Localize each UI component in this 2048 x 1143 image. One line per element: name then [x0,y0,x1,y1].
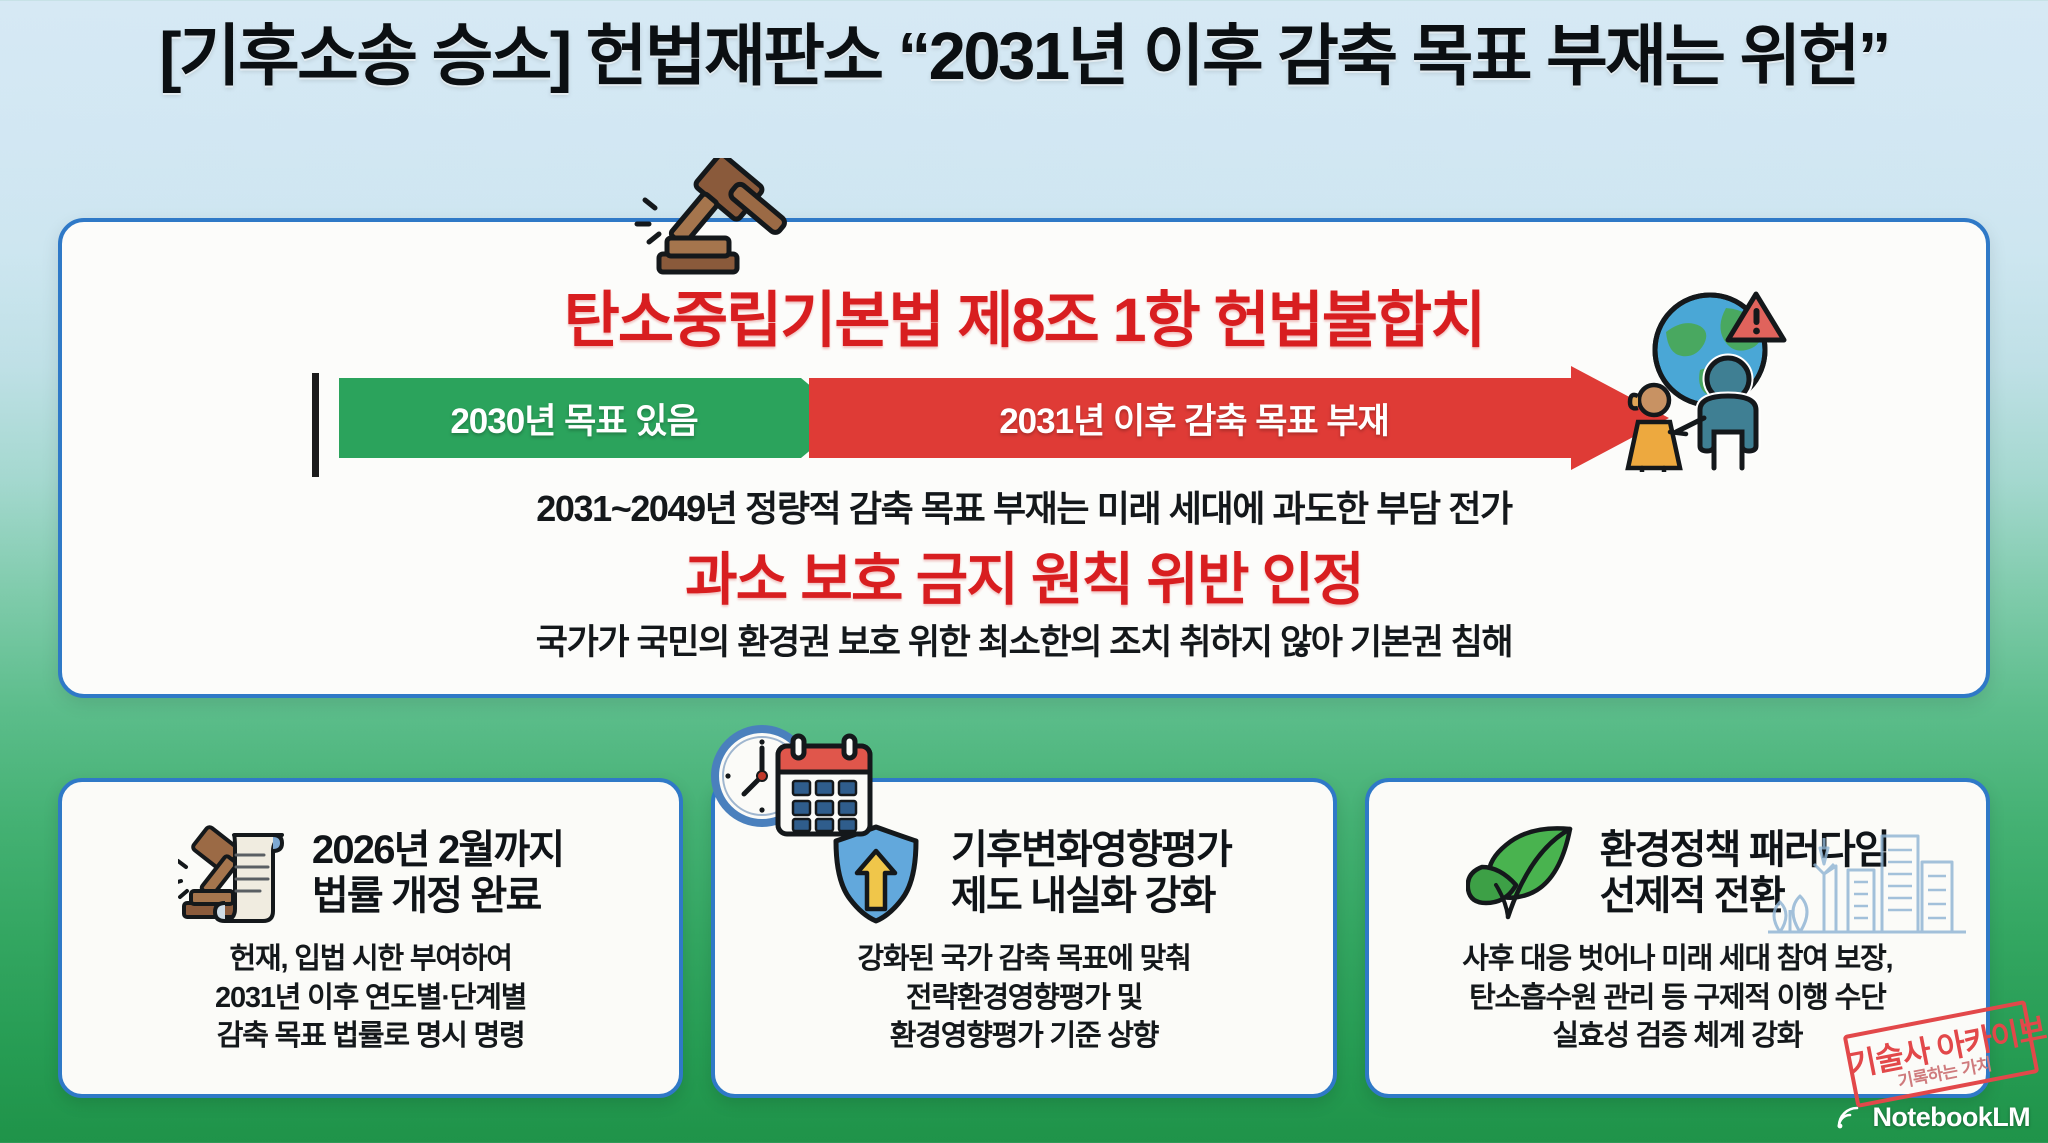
bottom-card-2-title-line-2: 제도 내실화 강화 [951,873,1231,919]
earth-family-warning-icon [1608,282,1838,472]
gavel-scroll-icon [178,821,296,925]
bottom-card-1-body-line-3: 감축 목표 법률로 명시 명령 [80,1017,661,1056]
bottom-card-3-title: 환경정책 패러다임 선제적 전환 [1600,827,1889,920]
bottom-card-1-title-line-2: 법률 개정 완료 [312,873,564,919]
main-ruling-card: 탄소중립기본법 제8조 1항 헌법불합치 2030년 목표 있음 2031년 이… [58,218,1990,698]
bottom-card-legal-revision[interactable]: 2026년 2월까지 법률 개정 완료 헌재, 입법 시한 부여하여 2031년… [58,778,683,1098]
timeline-green-label: 2030년 목표 있음 [339,378,809,458]
bottom-card-1-body-line-2: 2031년 이후 연도별·단계별 [80,979,661,1018]
timeline-arrow: 2030년 목표 있음 2031년 이후 감축 목표 부재 [339,378,1669,458]
bottom-card-3-body-line-3: 실효성 검증 체계 강화 [1387,1017,1968,1056]
page-title-text: [기후소송 승소] 헌법재판소 “2031년 이후 감축 목표 부재는 위헌” [24,22,2024,92]
bottom-card-3-body-line-2: 탄소흡수원 관리 등 구제적 이행 수단 [1387,979,1968,1018]
notebooklm-label: NotebookLM [1873,1102,2030,1133]
bottom-card-1-body-line-1: 헌재, 입법 시한 부여하여 [80,940,661,979]
bottom-card-3-title-line-1: 환경정책 패러다임 [1600,827,1889,873]
main-card-subtext-1: 2031~2049년 정량적 감축 목표 부재는 미래 세대에 과도한 부담 전… [62,480,1986,532]
gavel-icon [615,158,790,278]
bottom-card-2-title-line-1: 기후변화영향평가 [951,827,1231,873]
bottom-card-2-body-line-3: 환경영향평가 기준 상향 [733,1017,1314,1056]
clock-calendar-icon [700,718,885,843]
main-card-headline-2: 과소 보호 금지 원칙 위반 인정 [62,534,1986,616]
bottom-card-1-title: 2026년 2월까지 법률 개정 완료 [312,827,564,920]
leaf-icon [1466,821,1584,925]
bottom-card-1-body: 헌재, 입법 시한 부여하여 2031년 이후 연도별·단계별 감축 목표 법률… [62,928,679,1056]
page-title: [기후소송 승소] 헌법재판소 “2031년 이후 감축 목표 부재는 위헌” [0,22,2048,92]
bottom-card-2-title: 기후변화영향평가 제도 내실화 강화 [951,827,1231,920]
notebooklm-watermark: NotebookLM [1835,1102,2030,1133]
bottom-card-3-body: 사후 대응 벗어나 미래 세대 참여 보장, 탄소흡수원 관리 등 구제적 이행… [1369,928,1986,1056]
timeline-start-tick [312,373,319,477]
notebooklm-icon [1835,1104,1865,1132]
bottom-card-3-title-line-2: 선제적 전환 [1600,873,1889,919]
bottom-card-2-body: 강화된 국가 감축 목표에 맞춰 전략환경영향평가 및 환경영향평가 기준 상향 [715,928,1332,1056]
bottom-card-1-title-line-1: 2026년 2월까지 [312,827,564,873]
timeline-red-label: 2031년 이후 감축 목표 부재 [809,378,1579,458]
bottom-card-2-body-line-2: 전략환경영향평가 및 [733,979,1314,1018]
bottom-card-2-body-line-1: 강화된 국가 감축 목표에 맞춰 [733,940,1314,979]
bottom-card-1-head: 2026년 2월까지 법률 개정 완료 [62,782,679,928]
bottom-card-policy-paradigm[interactable]: 환경정책 패러다임 선제적 전환 사후 대응 벗어나 미래 세대 참여 보장, … [1365,778,1990,1098]
bottom-card-3-body-line-1: 사후 대응 벗어나 미래 세대 참여 보장, [1387,940,1968,979]
bottom-card-3-head: 환경정책 패러다임 선제적 전환 [1369,782,1986,928]
bottom-cards-row: 2026년 2월까지 법률 개정 완료 헌재, 입법 시한 부여하여 2031년… [58,778,1990,1098]
main-card-subtext-2: 국가가 국민의 환경권 보호 위한 최소한의 조치 취하지 않아 기본권 침해 [62,614,1986,665]
